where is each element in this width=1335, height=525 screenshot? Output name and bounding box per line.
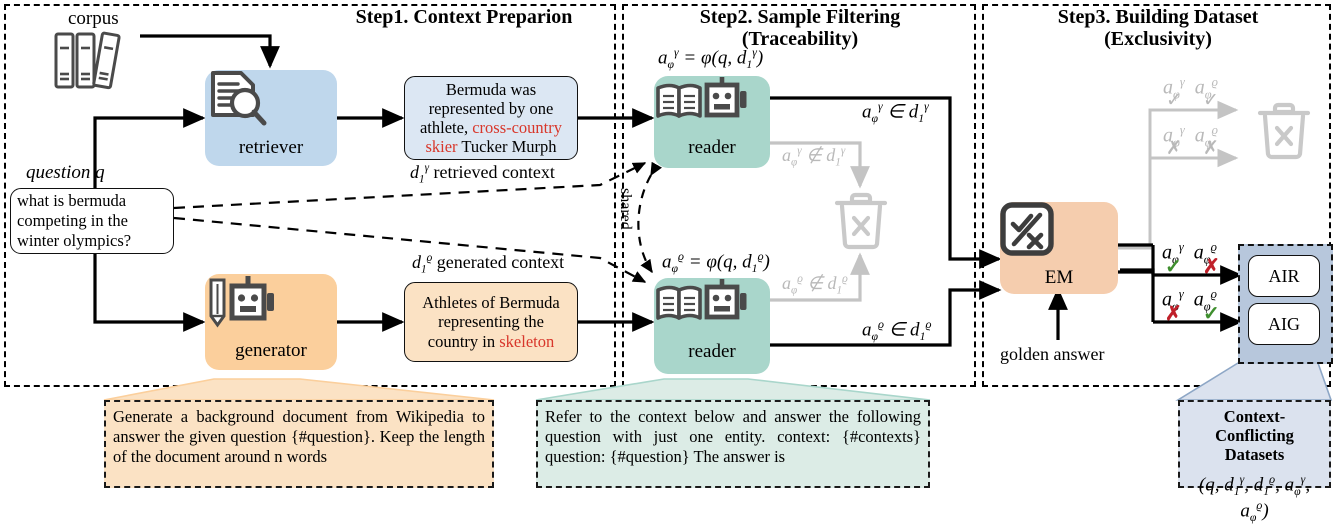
question-caption-text: question q [26,162,105,183]
aig-box[interactable]: AIG [1248,303,1320,345]
trash-x-icon [833,190,889,252]
label-drop-top: aφγ ∉ d1γ [782,145,845,169]
document-search-icon [240,78,302,136]
edge-question-to-generator [95,244,203,322]
retriever-node[interactable]: retriever [205,70,337,166]
branch-check-retrieved-correct: ✓ [1165,254,1182,279]
reader-bottom-label: reader [688,342,735,361]
retrieved-context-box[interactable]: Bermuda was represented by one athlete, … [404,76,578,160]
generated-context-caption: d1ϱ generated context [412,252,564,276]
em-label: EM [1045,268,1074,287]
corpus-label: corpus [68,8,119,30]
label-keep-bottom: aφϱ ∈ d1ϱ [862,318,931,344]
retrieved-context-post: Tucker Murph [458,137,557,156]
edge-shared-between-readers [638,175,652,272]
em-node[interactable]: EM [1000,202,1118,294]
golden-answer-label: golden answer [1000,344,1104,365]
retrieved-caption-text: retrieved context [433,162,554,182]
generator-node[interactable]: generator [205,274,337,370]
generated-context-box[interactable]: Athletes of Bermuda representing the cou… [404,282,578,362]
generated-context-highlight: skeleton [499,332,554,351]
question-text: what is bermuda competing in the winter … [17,191,167,250]
reader-top-label: reader [688,138,735,157]
reader-prompt-text: Refer to the context below and answer th… [545,407,921,466]
question-box[interactable]: what is bermuda competing in the winter … [10,188,174,254]
label-keep-top: aφγ ∈ d1γ [862,100,929,126]
trash-x-icon [1256,100,1312,162]
callout-wedge-generator [104,379,494,400]
branch-check-generated-correct: ✓ [1203,301,1220,326]
dataset-title: Context-Conflicting Datasets [1187,408,1322,465]
pencil-robot-icon [235,282,307,338]
branch-check-both-correct-2: ✓ [1203,89,1219,112]
generator-label: generator [235,341,307,360]
branch-cross-generated-correct: ✗ [1165,301,1182,326]
reader-bottom-formula: aφϱ = φ(q, d1ϱ) [662,250,770,276]
callout-wedge-dataset [1178,363,1331,400]
retrieved-context-caption: d1γ retrieved context [410,162,555,186]
generator-prompt-text: Generate a background document from Wiki… [113,407,485,466]
branch-cross-both-wrong-2: ✗ [1203,137,1219,160]
shared-label-text: shared [617,188,634,230]
branch-check-both-correct-1: ✓ [1166,89,1182,112]
reader-top-node[interactable]: reader [654,76,770,168]
branch-cross-both-wrong-1: ✗ [1166,137,1182,160]
dataset-callout-box: Context-Conflicting Datasets (q, d1γ, d1… [1178,400,1331,488]
edge-corpus-to-retriever [140,36,270,66]
reader-prompt-box: Refer to the context below and answer th… [536,400,930,488]
books-icon [53,32,133,90]
check-slash-x-icon [1032,210,1086,264]
edge-question-dashed-to-reader-bottom [174,218,645,282]
book-robot-icon [664,84,760,134]
branch-cross-retrieved-correct: ✗ [1203,254,1220,279]
callout-wedge-reader [536,379,930,400]
generated-caption-text: generated context [437,252,564,272]
aig-label: AIG [1268,314,1300,335]
dataset-tuple: (q, d1γ, d1ϱ, aφγ, aφϱ) [1187,473,1322,525]
reader-bottom-node[interactable]: reader [654,278,770,374]
shared-label: shared [616,188,634,230]
air-box[interactable]: AIR [1248,255,1320,297]
question-caption: question q [26,162,105,184]
edge-question-to-retriever [95,118,203,196]
book-robot-icon [664,288,760,338]
label-drop-bottom: aφϱ ∉ d1ϱ [782,273,848,297]
air-label: AIR [1269,266,1300,287]
generator-prompt-box: Generate a background document from Wiki… [104,400,494,488]
reader-top-formula: aφγ = φ(q, d1γ) [658,46,763,72]
retriever-label: retriever [239,138,303,157]
